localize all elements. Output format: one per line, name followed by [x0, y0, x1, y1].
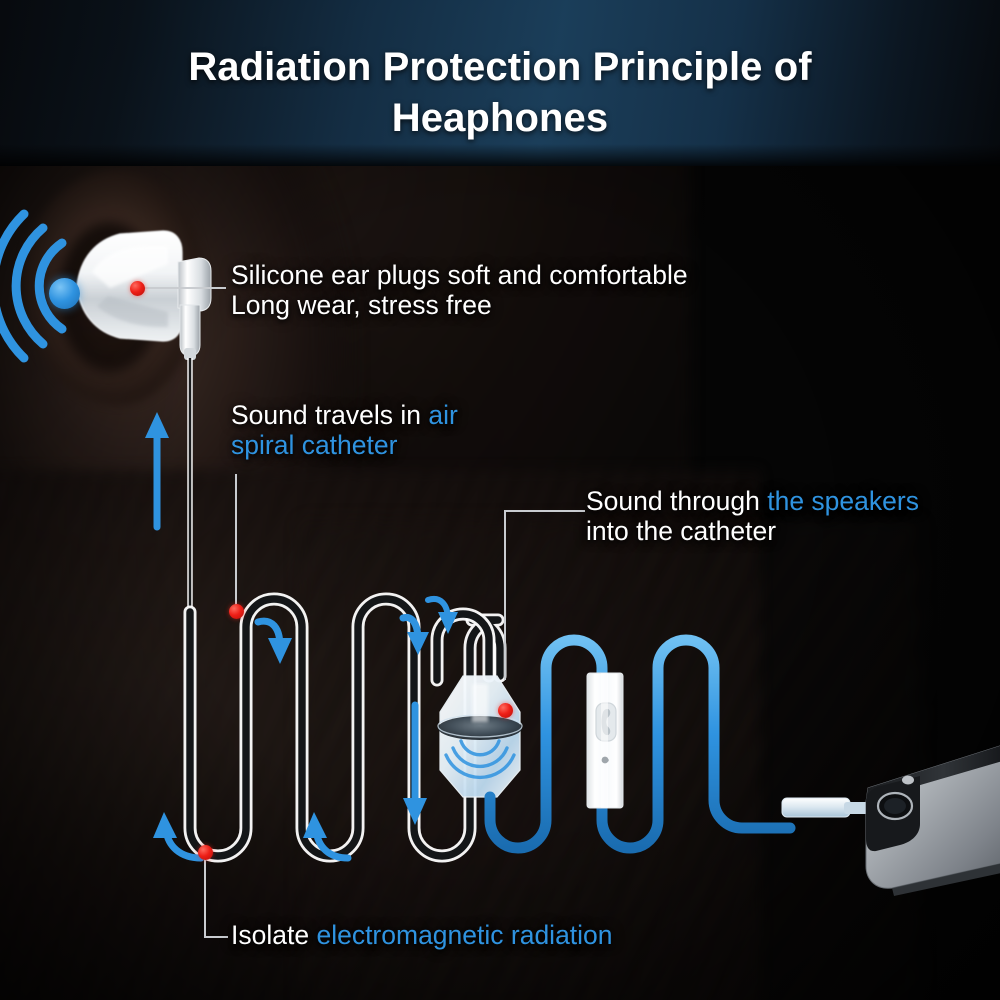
- callout-radiation-white: Isolate: [231, 920, 316, 950]
- callout-speakers-line-1: Sound through the speakers: [586, 486, 919, 516]
- blue-serpentine-cable: [490, 640, 790, 848]
- arrow-up-left: [145, 412, 169, 527]
- callout-radiation-line-1: Isolate electromagnetic radiation: [231, 920, 613, 950]
- callout-air-spiral-highlight: air: [428, 400, 457, 430]
- sound-origin-dot: [49, 278, 80, 309]
- leader-radiation: [205, 852, 228, 937]
- arrow-down-mid: [403, 705, 427, 825]
- page-title: Radiation Protection Principle of Heapho…: [0, 42, 1000, 144]
- callout-air-spiral-white: Sound travels in: [231, 400, 428, 430]
- inline-air-tube-speaker: [438, 676, 522, 797]
- arrow-curve-down-1: [258, 621, 292, 664]
- callout-radiation-highlight: electromagnetic radiation: [316, 920, 612, 950]
- marker-dot-speaker: [498, 703, 513, 718]
- marker-dot-air-spiral: [229, 604, 244, 619]
- callout-air-spiral-line-1: Sound travels in air: [231, 400, 458, 430]
- callout-earplug-line-2: Long wear, stress free: [231, 290, 688, 320]
- arrow-curve-down-2: [403, 617, 429, 655]
- page-title-line-1: Radiation Protection Principle of: [90, 42, 910, 93]
- callout-air-spiral: Sound travels in air spiral catheter: [231, 400, 458, 461]
- callout-earplug: Silicone ear plugs soft and comfortable …: [231, 260, 688, 321]
- marker-dot-earplug: [130, 281, 145, 296]
- earbud-housing: [178, 258, 211, 360]
- header-band: Radiation Protection Principle of Heapho…: [0, 0, 1000, 166]
- callout-radiation: Isolate electromagnetic radiation: [231, 920, 613, 950]
- callout-speakers-white: Sound through: [586, 486, 767, 516]
- marker-dot-radiation: [198, 845, 213, 860]
- inline-remote-control[interactable]: [587, 673, 623, 808]
- callout-speakers-line-2: into the catheter: [586, 516, 919, 546]
- audio-jack-plug: [782, 798, 868, 817]
- callout-earplug-line-1: Silicone ear plugs soft and comfortable: [231, 260, 688, 290]
- callout-speakers: Sound through the speakers into the cath…: [586, 486, 919, 547]
- smartphone-with-camera: [866, 744, 1000, 896]
- page-title-line-2: Heaphones: [90, 93, 910, 144]
- callout-speakers-highlight: the speakers: [767, 486, 919, 516]
- callout-air-spiral-line-2: spiral catheter: [231, 430, 458, 460]
